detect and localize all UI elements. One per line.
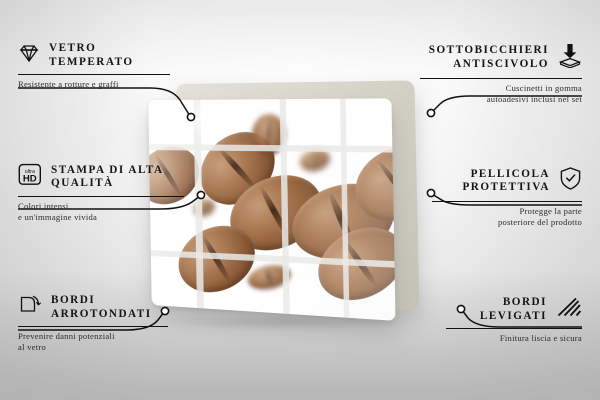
- feature-vetro-temperato: VETRO TEMPERATO Resistente a rotture e g…: [18, 42, 178, 90]
- feature-divider: [446, 328, 582, 329]
- diamond-icon: [18, 43, 40, 68]
- feature-subtitle: Resistente a rotture e graffi: [18, 79, 178, 90]
- feature-title: STAMPA DI ALTA QUALITÀ: [51, 164, 164, 191]
- feature-title: VETRO TEMPERATO: [49, 42, 134, 69]
- feature-divider: [432, 201, 582, 202]
- feature-stampa-di-alta-qualita: ultra HD STAMPA DI ALTA QUALITÀ Colori i…: [18, 163, 181, 223]
- feature-title: PELLICOLA PROTETTIVA: [462, 168, 550, 195]
- feature-title: SOTTOBICCHIERI ANTISCIVOLO: [429, 44, 549, 71]
- feature-subtitle: Prevenire danni potenziali al vetro: [18, 331, 170, 353]
- infographic-stage: VETRO TEMPERATO Resistente a rotture e g…: [0, 0, 600, 400]
- product-image: [150, 78, 430, 328]
- feature-divider: [18, 196, 184, 197]
- ultra-hd-icon: ultra HD: [18, 163, 42, 191]
- glass-board: [148, 98, 395, 321]
- feature-divider: [18, 74, 170, 75]
- polished-edge-icon: [556, 296, 582, 323]
- feature-divider: [18, 326, 168, 327]
- shield-check-icon: [559, 166, 582, 196]
- glass-reflection-grid: [148, 98, 395, 321]
- feature-sottobicchieri-antiscivolo: SOTTOBICCHIERI ANTISCIVOLO Cuscinetti in…: [420, 42, 582, 105]
- feature-divider: [420, 78, 582, 79]
- feature-bordi-levigati: BORDI LEVIGATI Finitura liscia e sicura: [446, 296, 582, 344]
- anti-slip-pad-icon: [558, 42, 582, 73]
- feature-subtitle: Finitura liscia e sicura: [446, 333, 582, 344]
- feature-subtitle: Cuscinetti in gomma autoadesivi inclusi …: [420, 83, 582, 105]
- feature-bordi-arrotondati: BORDI ARROTONDATI Prevenire danni potenz…: [18, 294, 170, 353]
- ultra-hd-large-label: HD: [23, 173, 37, 184]
- feature-title: BORDI LEVIGATI: [480, 296, 547, 323]
- feature-title: BORDI ARROTONDATI: [51, 294, 152, 321]
- feature-pellicola-protettiva: PELLICOLA PROTETTIVA Protegge la parte p…: [432, 166, 582, 228]
- feature-subtitle: Colori intensi e un'immagine vivida: [18, 201, 181, 223]
- rounded-corner-icon: [18, 294, 42, 321]
- feature-subtitle: Protegge la parte posteriore del prodott…: [432, 206, 582, 228]
